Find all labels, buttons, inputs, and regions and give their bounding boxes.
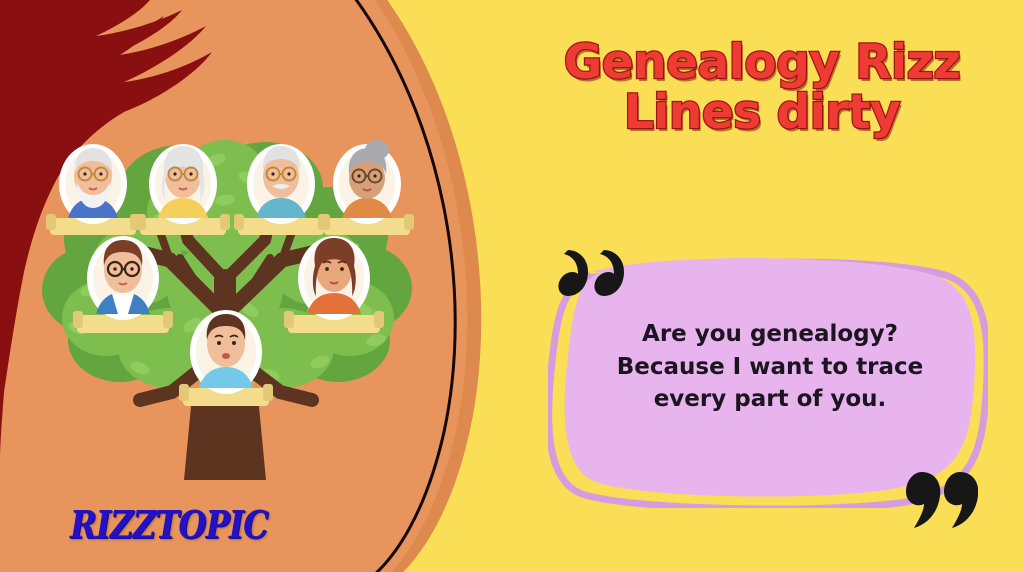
- name-banner-tail-left: [284, 311, 294, 328]
- name-banner-tail-left: [46, 214, 56, 230]
- family-tree-illustration: [20, 100, 440, 480]
- brand-logo: RIZZTOPIC: [70, 503, 268, 548]
- name-banner-tail-right: [374, 311, 384, 328]
- page-title: Genealogy Rizz Lines dirty: [512, 38, 1012, 138]
- tree-trunk: [184, 396, 266, 480]
- name-banner-tail-right: [220, 214, 230, 230]
- page-title-line-2: Lines dirty: [512, 88, 1012, 138]
- tree-member-grandfather-paternal[interactable]: [46, 144, 140, 235]
- page-title-line-1: Genealogy Rizz: [512, 38, 1012, 88]
- tree-member-grandmother-maternal[interactable]: [320, 140, 414, 235]
- close-quote-icon: [900, 468, 978, 530]
- name-banner-tail-left: [136, 214, 146, 230]
- name-banner-tail-left: [234, 214, 244, 230]
- name-banner-tail-right: [404, 214, 414, 230]
- name-banner-tail-left: [320, 214, 330, 230]
- quote-line-1: Are you genealogy?: [580, 318, 960, 351]
- name-banner-tail-right: [163, 311, 173, 328]
- name-banner-tail-left: [73, 311, 83, 328]
- name-banner-tail-right: [263, 384, 273, 401]
- open-quote-icon: [558, 248, 630, 304]
- quote-line-2: Because I want to trace: [580, 351, 960, 384]
- poster-canvas: RIZZTOPIC Genealogy Rizz Lines dirty Are…: [0, 0, 1024, 572]
- quote-text: Are you genealogy? Because I want to tra…: [580, 318, 960, 416]
- family-tree-svg: [20, 100, 440, 480]
- name-banner-tail-left: [179, 384, 189, 401]
- quote-line-3: every part of you.: [580, 383, 960, 416]
